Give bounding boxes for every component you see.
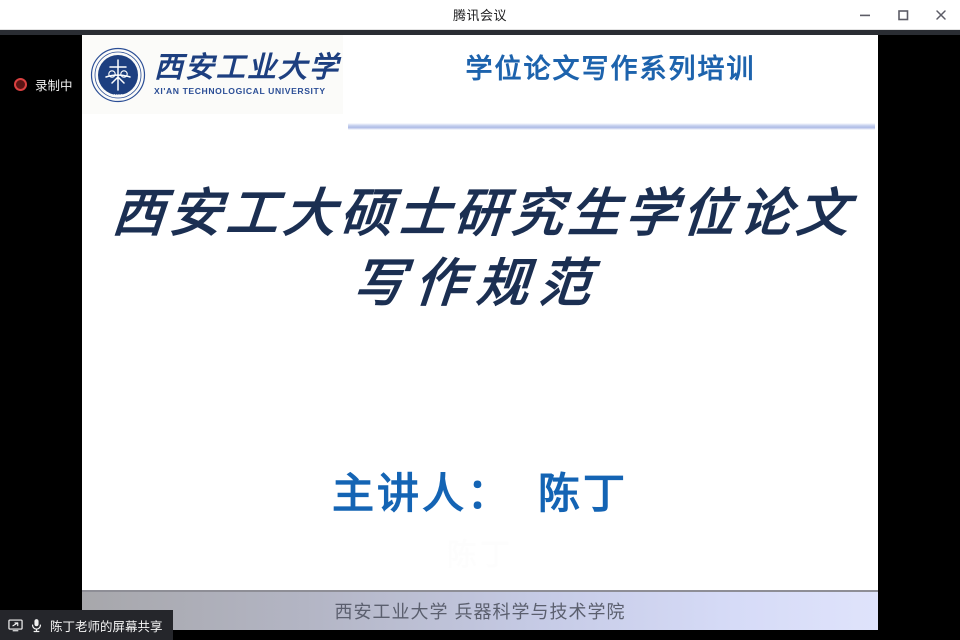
slide-header-title: 学位论文写作系列培训	[343, 35, 878, 97]
presenter-label: 主讲人：	[332, 470, 512, 517]
university-logo: 1955 西安工业大学 XI'AN TECHNOLOGICAL UNIVERSI…	[82, 35, 343, 114]
slide-presenter: 主讲人：陈丁	[82, 460, 878, 521]
maximize-button[interactable]	[884, 0, 922, 30]
window-title-bar: 腾讯会议	[0, 0, 960, 30]
slide-title-line2: 写作规范	[82, 250, 878, 320]
maximize-icon	[896, 8, 910, 22]
slide-header-title-text: 学位论文写作系列培训	[466, 47, 756, 86]
slide-footer: 西安工业大学 兵器科学与技术学院	[82, 590, 878, 630]
shared-slide: 1955 西安工业大学 XI'AN TECHNOLOGICAL UNIVERSI…	[82, 35, 878, 630]
minimize-icon	[858, 8, 872, 22]
recording-label: 录制中	[35, 75, 73, 94]
logo-name-cn: 西安工业大学	[154, 53, 340, 83]
slide-ghost-text: 陈丁	[82, 530, 878, 574]
close-icon	[934, 8, 948, 22]
recording-dot-icon	[14, 78, 27, 91]
header-divider	[348, 123, 875, 130]
slide-title-line1: 西安工大硕士研究生学位论文	[110, 186, 856, 243]
svg-text:1955: 1955	[113, 93, 123, 98]
window-controls	[846, 0, 960, 30]
microphone-icon[interactable]	[30, 618, 43, 633]
university-seal-icon: 1955	[90, 47, 146, 103]
recording-indicator: 录制中	[14, 75, 73, 94]
close-button[interactable]	[922, 0, 960, 30]
logo-name-en: XI'AN TECHNOLOGICAL UNIVERSITY	[154, 86, 340, 96]
presenter-name: 陈丁	[538, 470, 628, 517]
share-status-text: 陈丁老师的屏幕共享	[50, 616, 163, 635]
window-title: 腾讯会议	[453, 5, 507, 24]
slide-main-title: 西安工大硕士研究生学位论文 写作规范	[82, 180, 878, 319]
slide-footer-text: 西安工业大学 兵器科学与技术学院	[335, 598, 626, 624]
slide-body: 西安工大硕士研究生学位论文 写作规范 主讲人：陈丁 陈丁	[82, 130, 878, 595]
slide-header: 1955 西安工业大学 XI'AN TECHNOLOGICAL UNIVERSI…	[82, 35, 878, 115]
share-status-bar: 陈丁老师的屏幕共享	[0, 610, 173, 640]
minimize-button[interactable]	[846, 0, 884, 30]
screen-share-icon[interactable]	[8, 618, 23, 633]
logo-wordmark: 西安工业大学 XI'AN TECHNOLOGICAL UNIVERSITY	[154, 53, 340, 96]
meeting-stage: 录制中 1955 西安工业大学	[0, 30, 960, 640]
